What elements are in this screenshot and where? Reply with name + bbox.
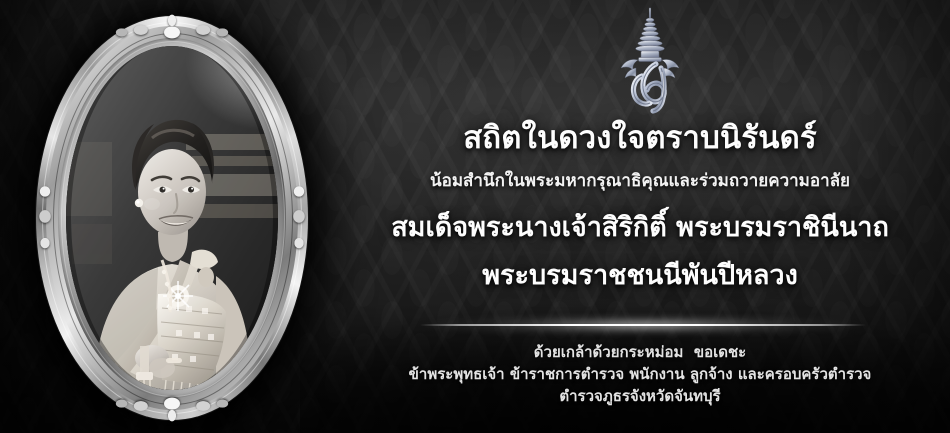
frame-scroll-left-icon	[32, 176, 58, 262]
royal-title-line-2: พระบรมราชชนนีพันปีหลวง	[330, 258, 950, 293]
frame-scroll-right-icon	[286, 176, 312, 262]
frame-ornament-top-icon	[112, 10, 232, 50]
subheadline-text: น้อมสำนึกในพระมหากรุณาธิคุณและร่วมถวายคว…	[330, 170, 950, 192]
frame-ornament-bottom-icon	[112, 386, 232, 426]
headline-text: สถิตในดวงใจตราบนิรันดร์	[330, 120, 950, 158]
royal-title-line-1: สมเด็จพระนางเจ้าสิริกิติ์ พระบรมราชินีนา…	[330, 210, 950, 245]
dedication-line-2: ข้าพระพุทธเจ้า ข้าราชการตำรวจ พนักงาน ลู…	[330, 363, 950, 385]
queen-sirikit-portrait-photo	[66, 46, 278, 390]
memorial-banner: สถิตในดวงใจตราบนิรันดร์ น้อมสำนึกในพระมห…	[0, 0, 950, 433]
dedication-line-1: ด้วยเกล้าด้วยกระหม่อม ขอเดชะ	[330, 341, 950, 363]
dedication-block: ด้วยเกล้าด้วยกระหม่อม ขอเดชะ ข้าพระพุทธเ…	[330, 341, 950, 408]
dedication-line-3: ตำรวจภูธรจังหวัดจันทบุรี	[330, 385, 950, 407]
portrait-frame-group	[28, 8, 316, 428]
